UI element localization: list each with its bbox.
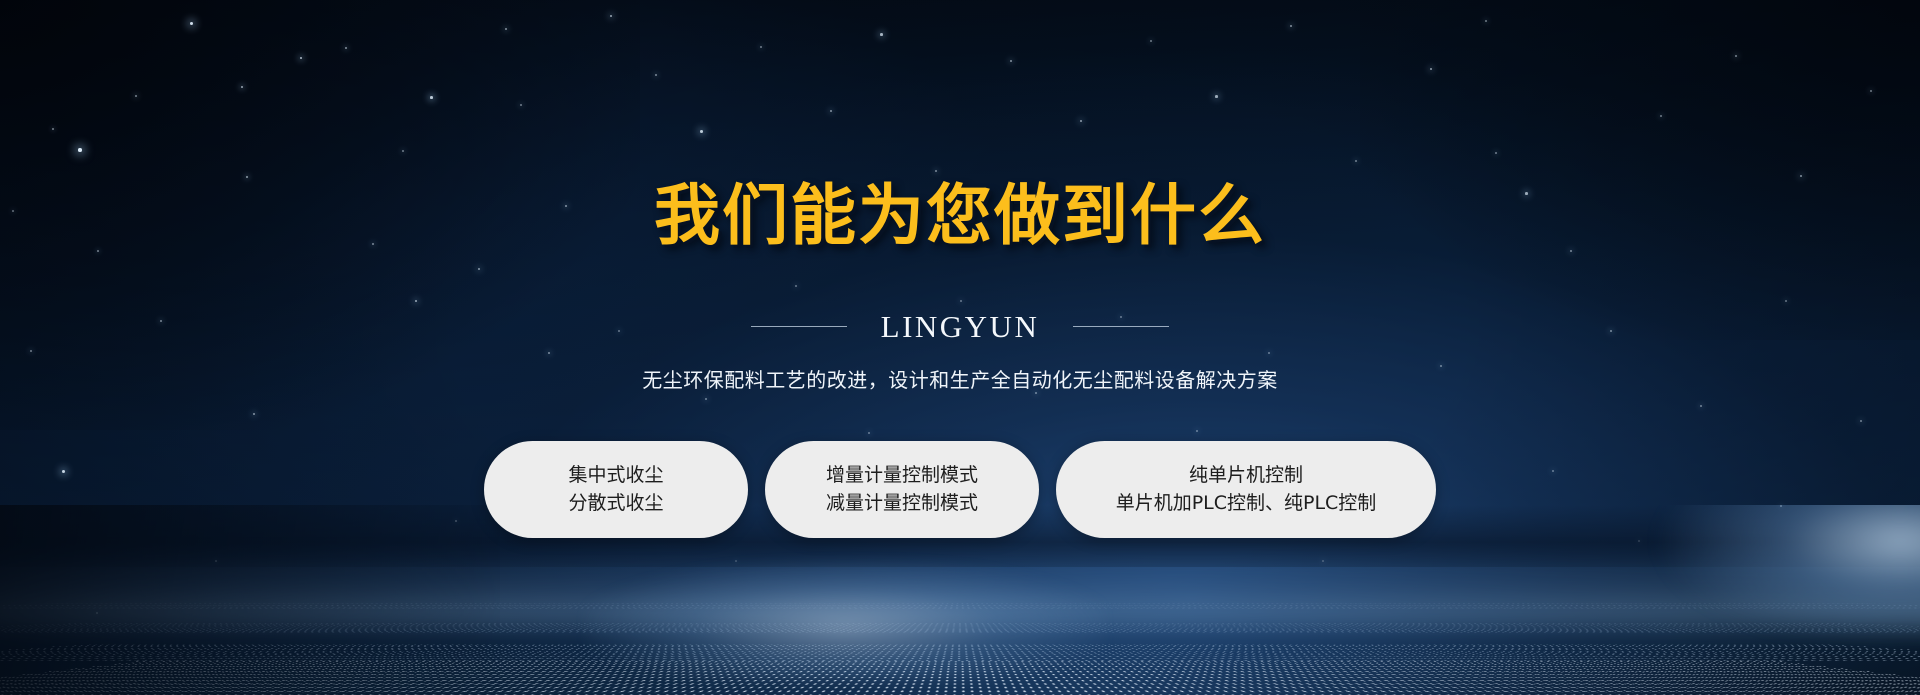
- subtitle-row: LINGYUN: [751, 311, 1170, 342]
- feature-card-dust-collection[interactable]: 集中式收尘 分散式收尘: [484, 441, 748, 538]
- hero-banner: 我们能为您做到什么 LINGYUN 无尘环保配料工艺的改进，设计和生产全自动化无…: [0, 0, 1920, 695]
- card-line-2: 分散式收尘: [568, 494, 663, 513]
- feature-card-control-system[interactable]: 纯单片机控制 单片机加PLC控制、纯PLC控制: [1056, 441, 1436, 538]
- feature-card-metering-mode[interactable]: 增量计量控制模式 减量计量控制模式: [765, 441, 1039, 538]
- card-line-2: 单片机加PLC控制、纯PLC控制: [1116, 494, 1377, 513]
- banner-content: 我们能为您做到什么 LINGYUN 无尘环保配料工艺的改进，设计和生产全自动化无…: [0, 0, 1920, 695]
- rule-right-icon: [1073, 326, 1169, 327]
- feature-card-list: 集中式收尘 分散式收尘 增量计量控制模式 减量计量控制模式 纯单片机控制 单片机…: [484, 441, 1436, 538]
- card-line-2: 减量计量控制模式: [826, 494, 978, 513]
- card-line-1: 纯单片机控制: [1189, 466, 1303, 485]
- card-line-1: 集中式收尘: [568, 466, 663, 485]
- rule-left-icon: [751, 326, 847, 327]
- card-line-1: 增量计量控制模式: [826, 466, 978, 485]
- banner-headline: 我们能为您做到什么: [654, 183, 1266, 249]
- banner-description: 无尘环保配料工艺的改进，设计和生产全自动化无尘配料设备解决方案: [642, 364, 1278, 393]
- banner-subtitle-en: LINGYUN: [881, 311, 1040, 342]
